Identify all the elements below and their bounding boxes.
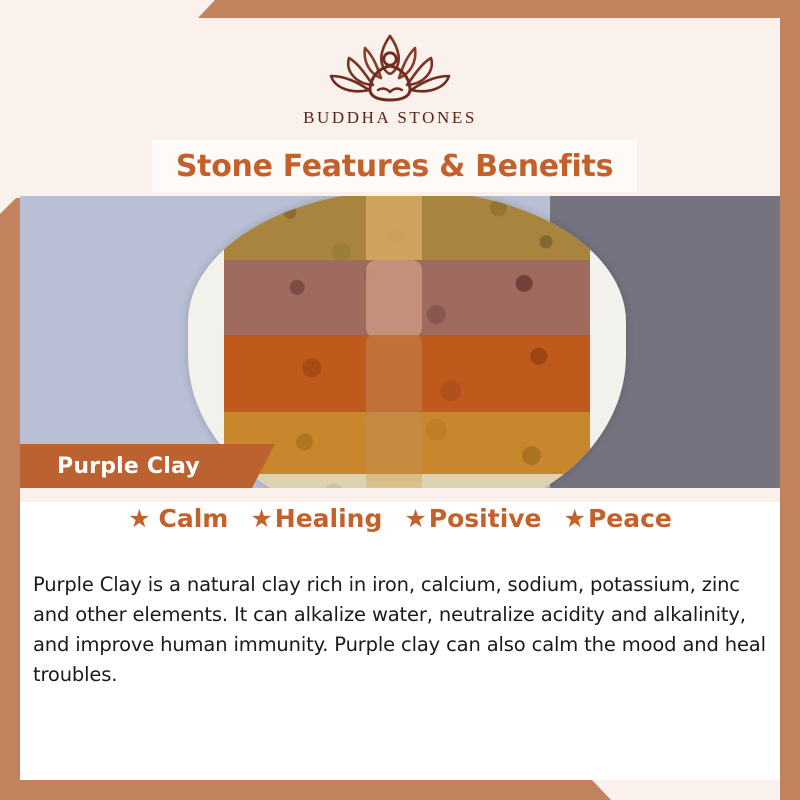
benefit-item-positive: ★ Positive (404, 504, 541, 533)
benefit-item-calm: ★ Calm (128, 504, 228, 533)
brand-name: BUDDHA STONES (303, 108, 477, 128)
stone-name-label: Purple Clay (57, 454, 200, 479)
star-icon: ★ (404, 506, 426, 531)
powder-swatch-3 (366, 335, 422, 415)
powder-swatch-5 (366, 474, 422, 488)
frame-bottom-band (0, 780, 800, 800)
stone-name-tab: Purple Clay (20, 444, 275, 488)
stone-description: Purple Clay is a natural clay rich in ir… (33, 570, 769, 690)
benefit-label: Peace (588, 504, 672, 533)
content-panel: ★ Calm ★ Healing ★ Positive ★ Peace Purp… (20, 488, 780, 780)
benefit-label: Calm (159, 504, 229, 533)
frame-left-band (0, 198, 20, 800)
content-top-strip (20, 488, 780, 502)
star-icon: ★ (564, 506, 586, 531)
benefit-label: Positive (429, 504, 542, 533)
frame-top-band (0, 0, 800, 18)
star-icon: ★ (128, 506, 150, 531)
frame-right-band (780, 0, 800, 800)
benefit-item-healing: ★ Healing (250, 504, 382, 533)
benefits-row: ★ Calm ★ Healing ★ Positive ★ Peace (20, 504, 780, 533)
stone-features-infographic: BUDDHA STONES Stone Features & Benefits … (0, 0, 800, 800)
page-title: Stone Features & Benefits (176, 149, 613, 184)
page-title-banner: Stone Features & Benefits (152, 140, 637, 192)
benefit-item-peace: ★ Peace (564, 504, 672, 533)
powder-swatch-4 (366, 412, 422, 482)
powder-swatch-2 (366, 260, 422, 338)
brand-header: BUDDHA STONES (0, 18, 780, 140)
benefit-label: Healing (275, 504, 383, 533)
powder-swatch-1 (366, 196, 422, 260)
lotus-meditation-icon (325, 30, 455, 104)
star-icon: ★ (250, 506, 272, 531)
